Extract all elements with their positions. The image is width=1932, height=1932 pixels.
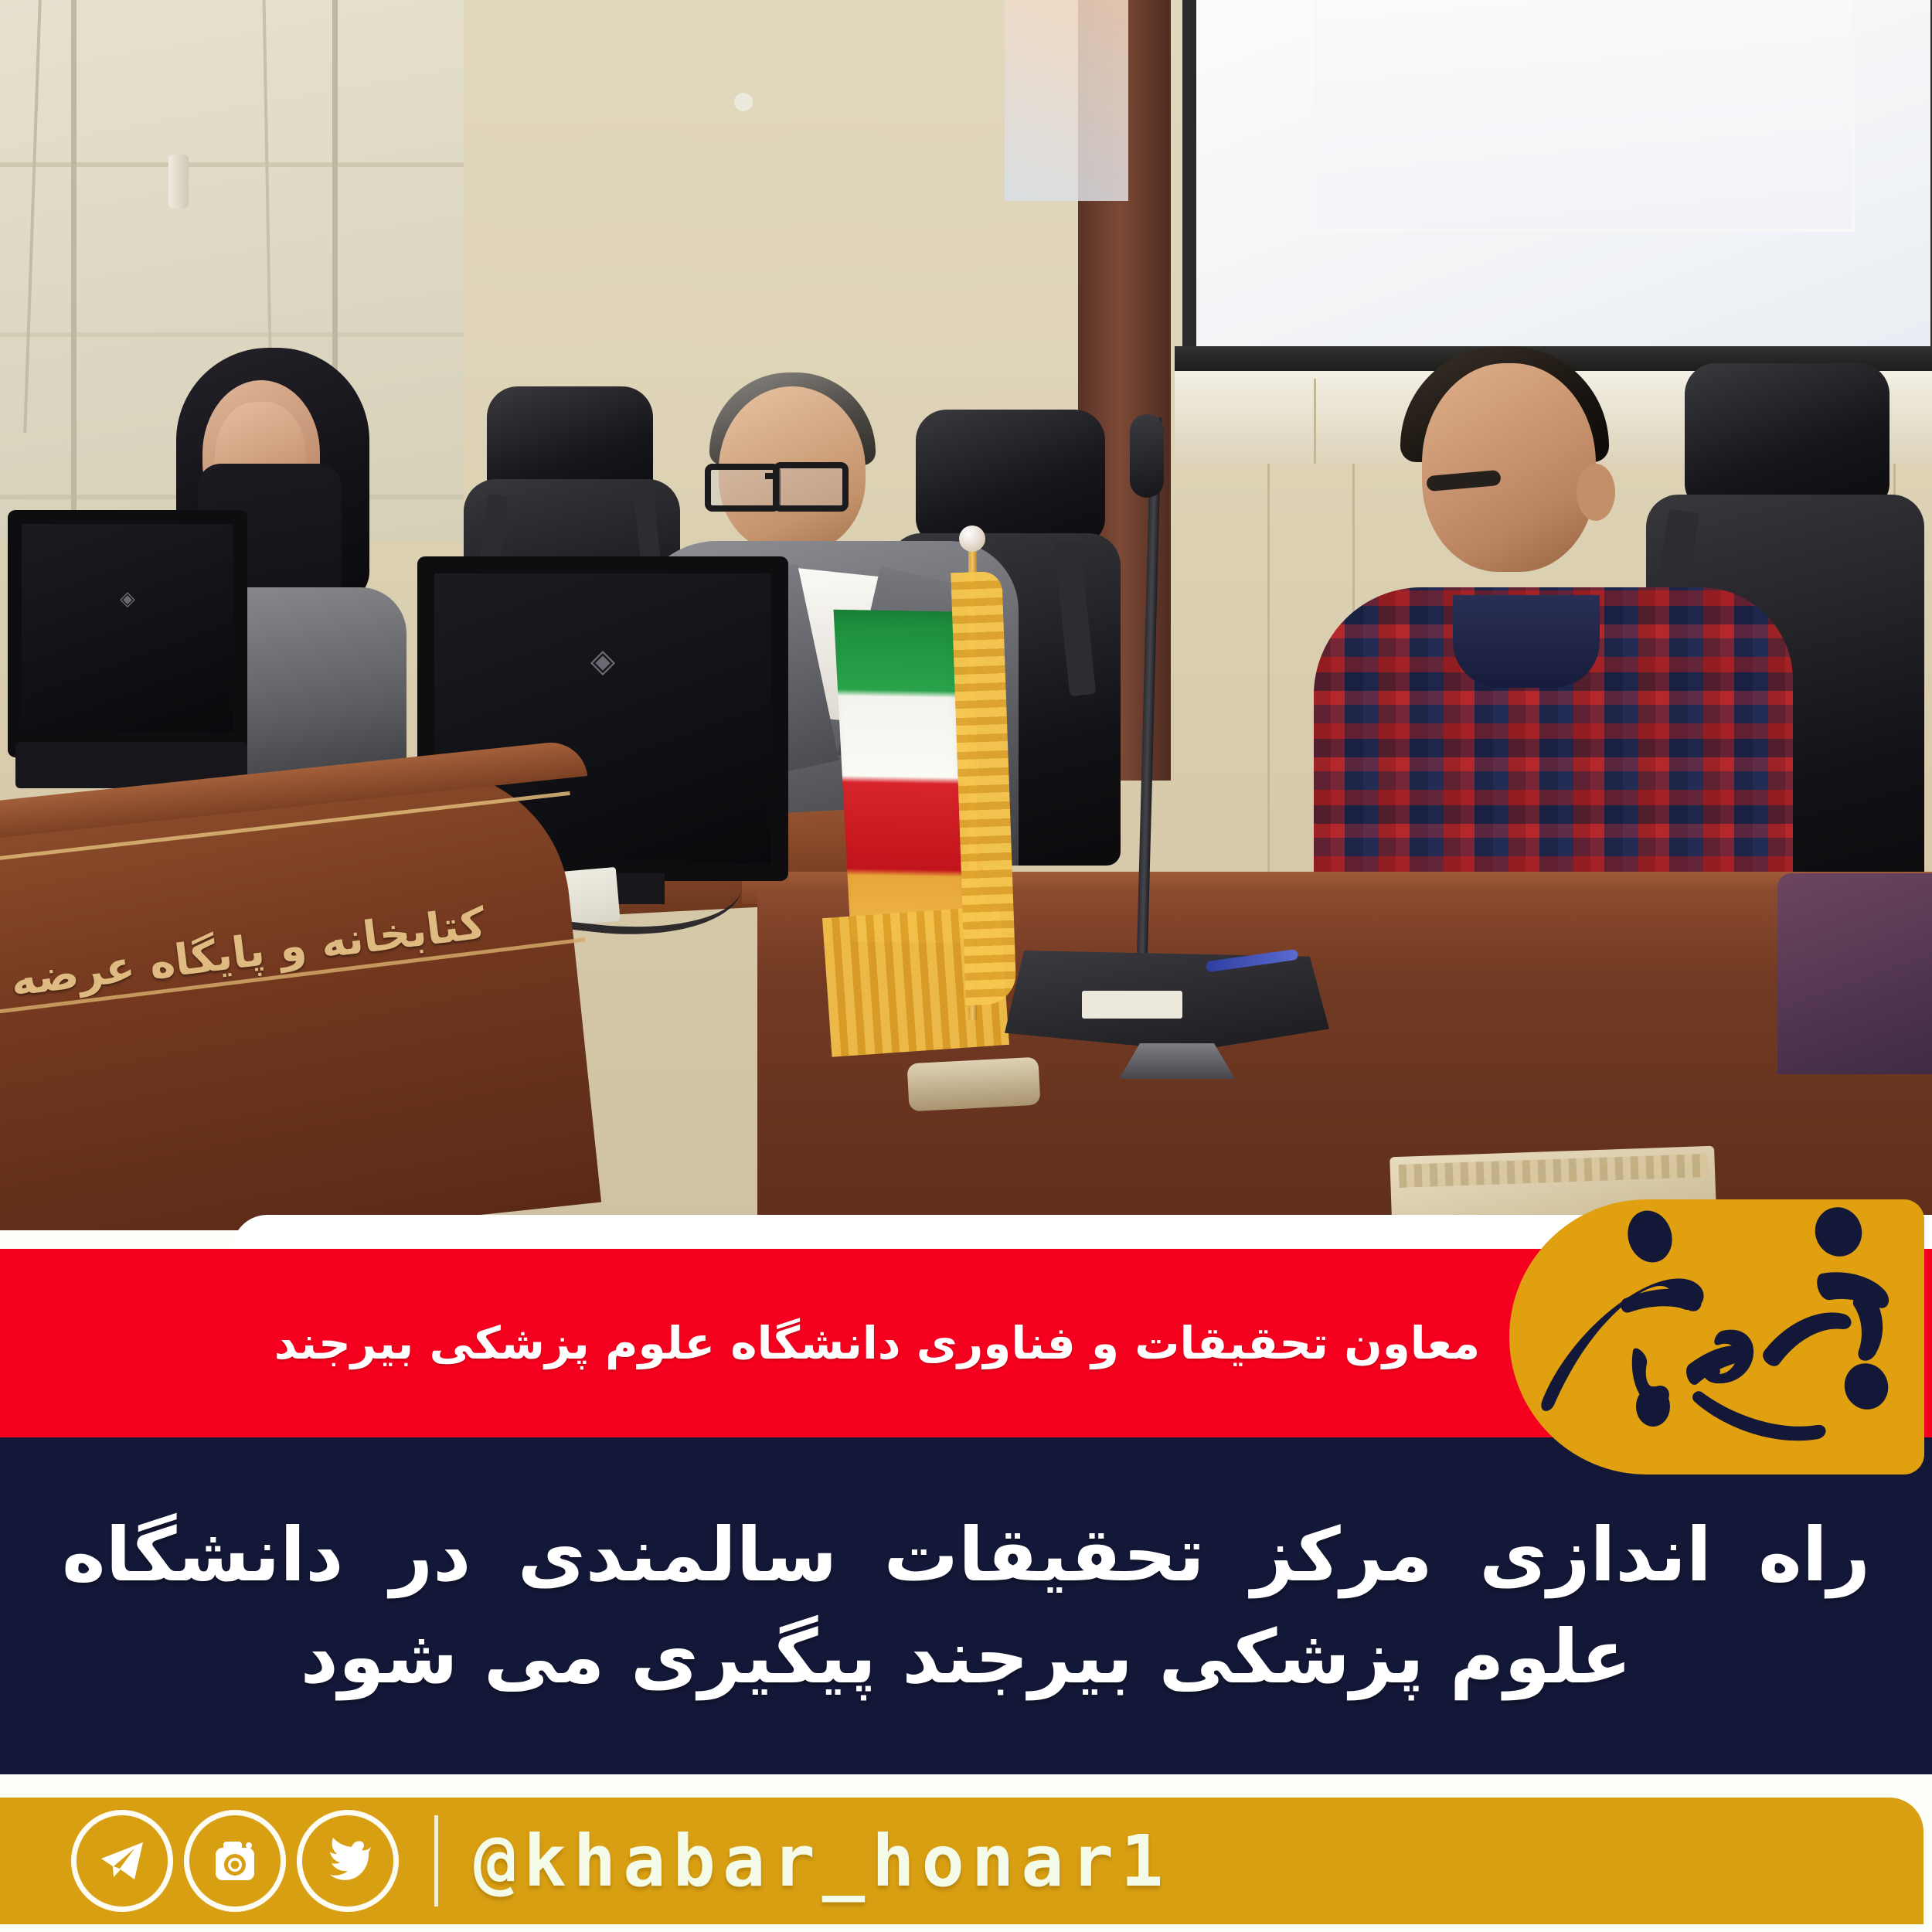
chair-headrest bbox=[916, 410, 1105, 545]
microphone-label bbox=[1082, 991, 1182, 1019]
monitor-screen bbox=[22, 524, 233, 733]
folded-cloth bbox=[1777, 873, 1932, 1074]
instagram-icon bbox=[209, 1835, 260, 1886]
person-man-plaid-ear bbox=[1577, 464, 1615, 521]
telegram-icon bbox=[97, 1835, 148, 1886]
headline-text: راه اندازی مرکز تحقیقات سالمندی در دانشگ… bbox=[62, 1504, 1870, 1709]
microphone-capsule bbox=[1130, 414, 1164, 498]
person-man-plaid-head bbox=[1422, 363, 1596, 572]
eyeglasses-bridge bbox=[765, 473, 779, 479]
footer-gap bbox=[0, 1774, 1932, 1798]
footer-divider bbox=[434, 1815, 438, 1906]
wall-panel-line bbox=[1314, 379, 1316, 464]
footer-bar: @khabar_honar1 bbox=[0, 1798, 1923, 1924]
shirt-collar bbox=[1453, 595, 1600, 688]
eyeglasses-icon bbox=[705, 464, 781, 512]
social-link-twitter[interactable] bbox=[297, 1810, 399, 1912]
monitor-logo: ◈ bbox=[22, 587, 233, 611]
khabar-honar-calligraphy-logo bbox=[1509, 1199, 1924, 1475]
glass-clamp-icon bbox=[734, 93, 753, 111]
social-link-instagram[interactable] bbox=[184, 1810, 286, 1912]
bottom-margin bbox=[0, 1924, 1932, 1932]
glass-mullion bbox=[71, 0, 77, 533]
headline-section: راه اندازی مرکز تحقیقات سالمندی در دانشگ… bbox=[0, 1437, 1932, 1774]
wall-light-glow bbox=[1005, 0, 1128, 201]
glass-rail bbox=[0, 162, 464, 167]
flag-finial bbox=[959, 526, 985, 552]
twitter-icon bbox=[321, 1835, 374, 1887]
chair-headrest bbox=[1685, 363, 1889, 510]
news-photo: ◈ ◈ کتابخانه و پایگاه عرضه اطلا bbox=[0, 0, 1932, 1230]
wall-panel-line bbox=[1267, 464, 1270, 896]
brand-logo-badge[interactable] bbox=[1509, 1199, 1924, 1475]
right-margin bbox=[1923, 1774, 1932, 1932]
monitor-logo: ◈ bbox=[434, 641, 771, 679]
kicker-text: معاون تحقیقات و فناوری دانشگاه علوم پزشک… bbox=[274, 1317, 1658, 1369]
glass-rail bbox=[0, 332, 464, 337]
projected-slide bbox=[1314, 0, 1855, 232]
glass-clamp-icon bbox=[168, 155, 189, 209]
eyeglasses-icon bbox=[773, 462, 849, 512]
flag-stand-base bbox=[906, 1057, 1040, 1112]
social-handle[interactable]: @khabar_honar1 bbox=[474, 1820, 1170, 1903]
news-graphic-card: ◈ ◈ کتابخانه و پایگاه عرضه اطلا bbox=[0, 0, 1932, 1932]
social-link-telegram[interactable] bbox=[71, 1810, 173, 1912]
